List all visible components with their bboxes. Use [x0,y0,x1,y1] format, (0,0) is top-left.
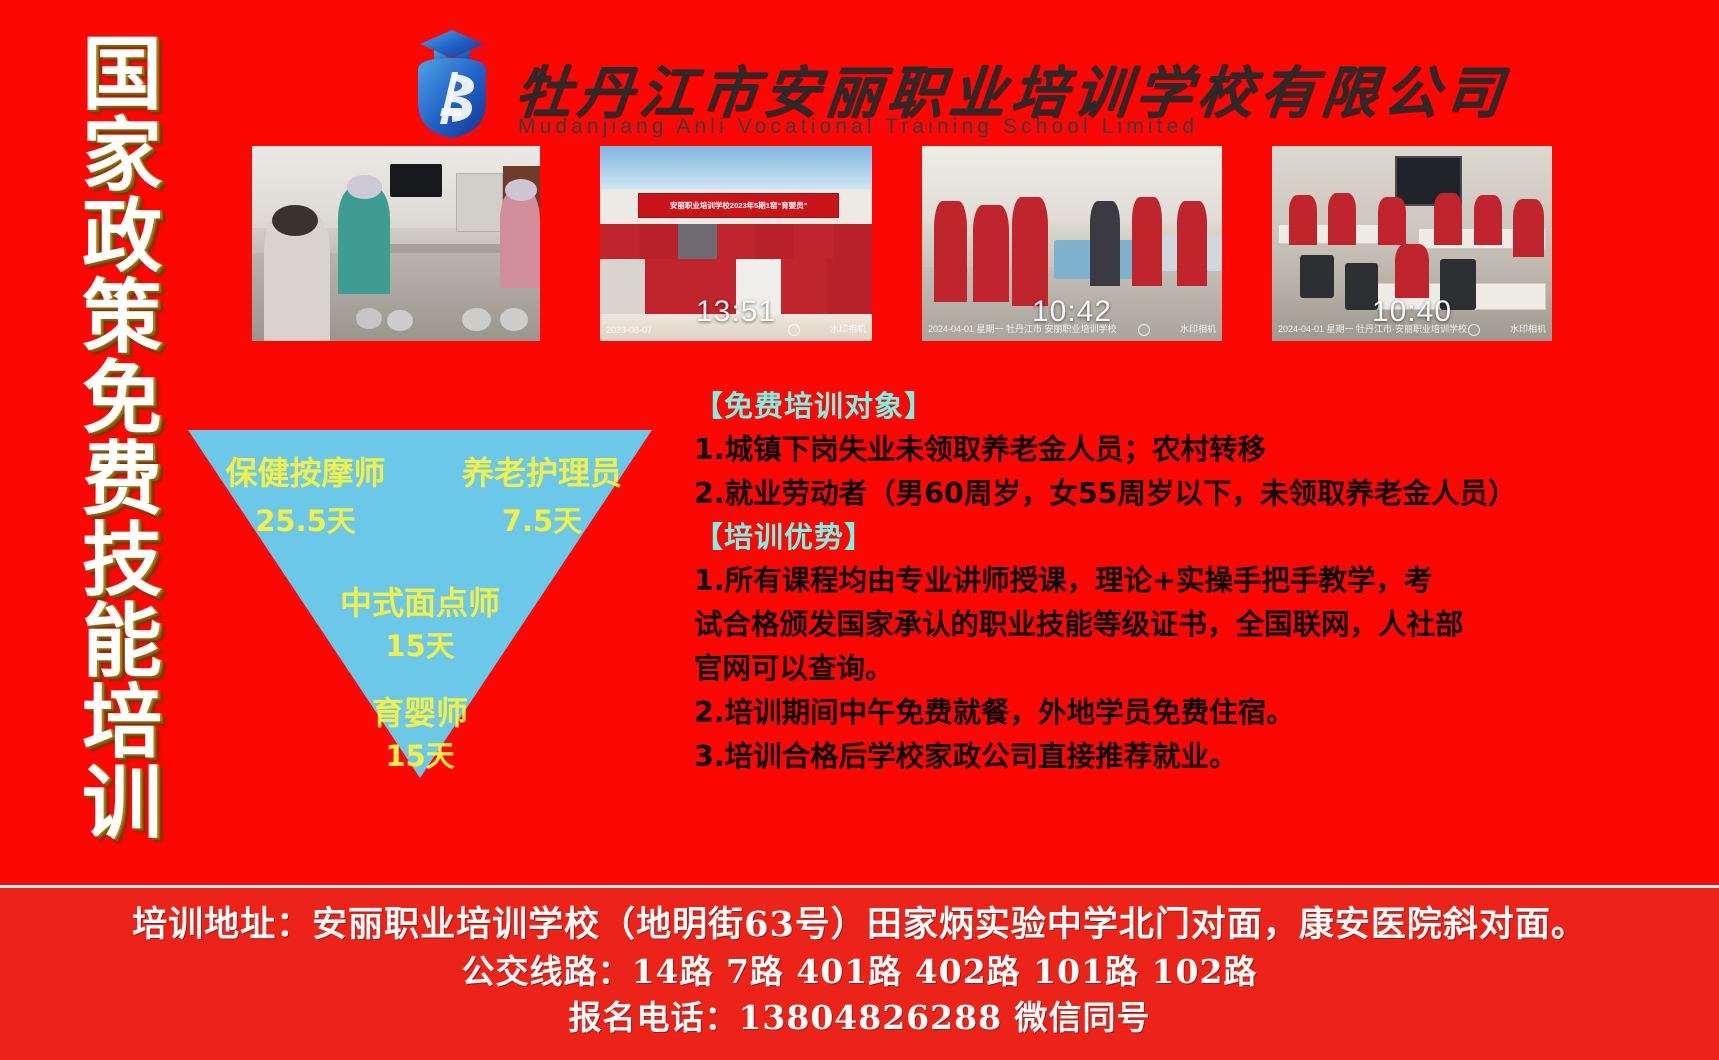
watermark-camera-icon [788,324,800,336]
course-name-4: 育婴师 [170,688,670,734]
course-days-2: 7.5天 [435,498,650,540]
section-heading-target: 【免费培训对象】 [694,385,1524,428]
group-photo-banner: 安丽职业培训学校2023年5期1窑“育婴员” [600,146,872,341]
pastry-class-photo [252,146,540,341]
vertical-headline-char: 训 [82,763,162,844]
photo-banner-text: 安丽职业培训学校2023年5期1窑“育婴员” [639,194,838,217]
info-item: 官网可以查询。 [694,647,1524,691]
vertical-headline-char: 培 [82,682,162,763]
vertical-headline-char: 策 [82,277,162,358]
graduation-cap-logo-icon [398,28,506,138]
classroom-photo: 10:40 2024-04-01 星期一 牡丹江市·安丽职业培训学校 水印相机 [1272,146,1552,341]
course-days-3: 15天 [170,623,670,665]
poster-root: 国 家 政 策 免 费 技 能 培 训 [0,0,1719,1060]
info-block: 【免费培训对象】 1.城镇下岗失业未领取养老金人员；农村转移 2.就业劳动者（男… [694,385,1524,779]
course-name-1: 保健按摩师 [191,448,421,494]
photo-date-watermark: 2023-08-07 [606,325,652,335]
header: 牡丹江市安丽职业培训学校有限公司 Mudanjiang Anli Vocatio… [398,22,1298,142]
info-item: 1.城镇下岗失业未领取养老金人员；农村转移 [694,428,1524,472]
nursing-practice-photo: 10:42 2024-04-01 星期一 牡丹江市 安丽职业培训学校 水印相机 [922,146,1222,341]
vertical-headline-char: 技 [82,520,162,601]
info-item: 试合格颁发国家承认的职业技能等级证书，全国联网，人社部 [694,603,1524,647]
photo-strip: 安丽职业培训学校2023年5期1窑“育婴员” [252,146,1552,341]
course-triangle: 保健按摩师 养老护理员 25.5天 7.5天 中式面点师 15天 育婴师 15天 [170,388,670,778]
footer-divider [0,885,1719,888]
course-row-names-1: 保健按摩师 养老护理员 [170,448,670,494]
info-item: 2.就业劳动者（男60周岁，女55周岁以下，未领取养老金人员） [694,472,1524,516]
photo-watermark: 水印相机 [1510,322,1546,335]
info-item: 1.所有课程均由专业讲师授课，理论+实操手把手教学，考 [694,559,1524,603]
vertical-headline-char: 国 [82,34,162,115]
course-name-2: 养老护理员 [435,448,650,494]
vertical-headline-char: 免 [82,358,162,439]
photo-date-watermark: 2024-04-01 星期一 牡丹江市 安丽职业培训学校 [928,322,1117,335]
photo-timestamp: 13:51 [696,295,776,329]
company-name-en: Mudanjiang Anli Vocational Training Scho… [518,115,1198,139]
watermark-camera-icon [1468,324,1480,336]
watermark-camera-icon [1138,324,1150,336]
vertical-headline: 国 家 政 策 免 费 技 能 培 训 [66,34,178,844]
course-days-1: 25.5天 [191,498,421,540]
vertical-headline-char: 能 [82,601,162,682]
footer-phone[interactable]: 报名电话：13804826288 微信同号 [0,995,1719,1041]
vertical-headline-char: 费 [82,439,162,520]
footer-address: 培训地址：安丽职业培训学校（地明街63号）田家炳实验中学北门对面，康安医院斜对面… [0,901,1719,949]
footer-band: 培训地址：安丽职业培训学校（地明街63号）田家炳实验中学北门对面，康安医院斜对面… [0,885,1719,1060]
footer-bus-routes: 公交线路：14路 7路 401路 402路 101路 102路 [0,949,1719,995]
course-name-3: 中式面点师 [170,578,670,624]
section-heading-advantage: 【培训优势】 [694,516,1524,559]
photo-date-watermark: 2024-04-01 星期一 牡丹江市·安丽职业培训学校 [1278,322,1467,335]
course-days-4: 15天 [170,733,670,775]
vertical-headline-char: 政 [82,196,162,277]
photo-watermark: 水印相机 [1180,322,1216,335]
course-row-days-1: 25.5天 7.5天 [170,498,670,540]
vertical-headline-char: 家 [82,115,162,196]
photo-watermark: 水印相机 [830,322,866,335]
info-item: 2.培训期间中午免费就餐，外地学员免费住宿。 [694,691,1524,735]
info-item: 3.培训合格后学校家政公司直接推荐就业。 [694,735,1524,779]
